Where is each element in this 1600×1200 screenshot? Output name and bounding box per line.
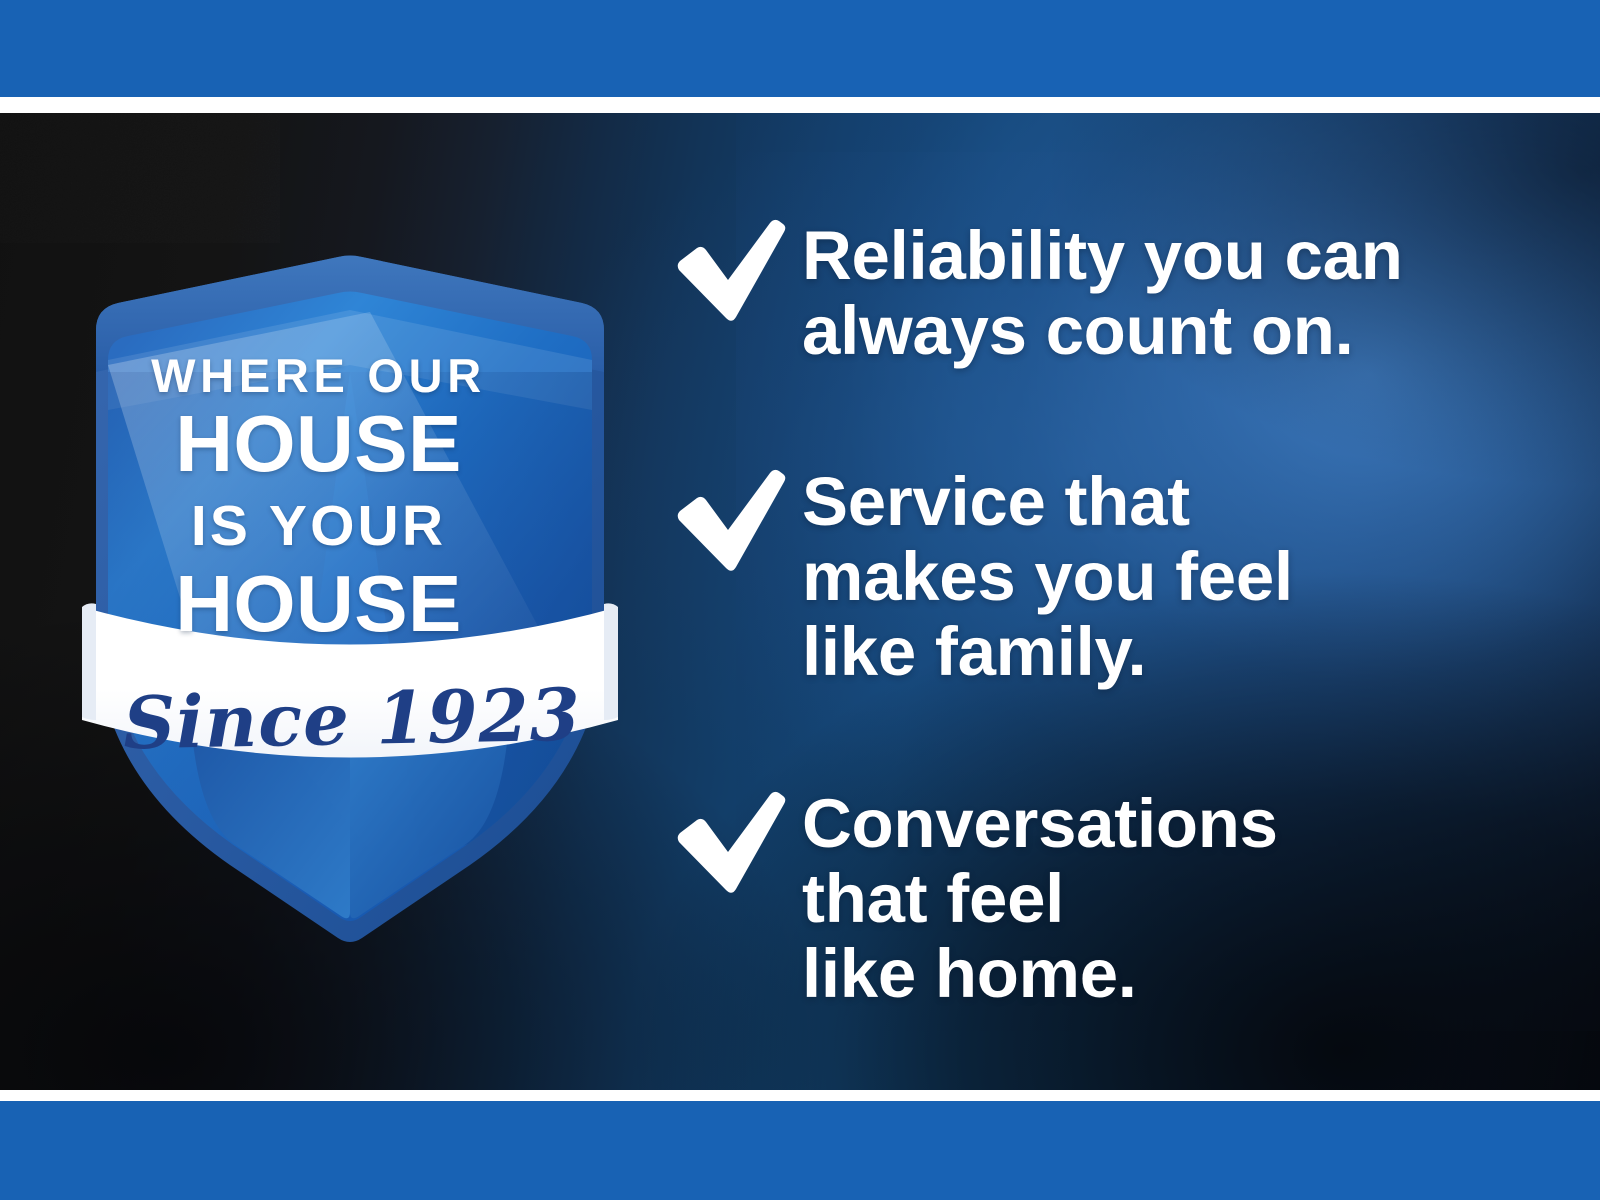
list-item-label: Conversations that feel like home. <box>802 785 1278 1012</box>
shield-badge: WHERE OUR HOUSE IS YOUR HOUSE Since 1923 <box>70 160 630 960</box>
list-item: Conversations that feel like home. <box>670 785 1278 1012</box>
bottom-brand-bar <box>0 1101 1600 1200</box>
list-item: Reliability you can always count on. <box>670 213 1403 369</box>
list-item: Service that makes you feel like family. <box>670 463 1293 690</box>
checkmark-icon <box>670 467 802 575</box>
promo-graphic: WHERE OUR HOUSE IS YOUR HOUSE Since 1923… <box>0 0 1600 1200</box>
bottom-white-divider <box>0 1090 1600 1101</box>
list-item-label: Service that makes you feel like family. <box>802 463 1293 690</box>
checkmark-icon <box>670 789 802 897</box>
checkmark-icon <box>670 217 802 325</box>
badge-line-house-top: HOUSE <box>70 404 567 484</box>
badge-line-is-your: IS YOUR <box>70 498 567 555</box>
badge-line-where-our: WHERE OUR <box>70 352 567 399</box>
badge-line-house-bottom: HOUSE <box>70 564 567 644</box>
benefits-list: Reliability you can always count on. Ser… <box>670 113 1570 1090</box>
top-brand-bar <box>0 0 1600 97</box>
top-white-divider <box>0 97 1600 113</box>
ribbon-since-text: Since 1923 <box>91 671 613 766</box>
list-item-label: Reliability you can always count on. <box>802 213 1403 369</box>
